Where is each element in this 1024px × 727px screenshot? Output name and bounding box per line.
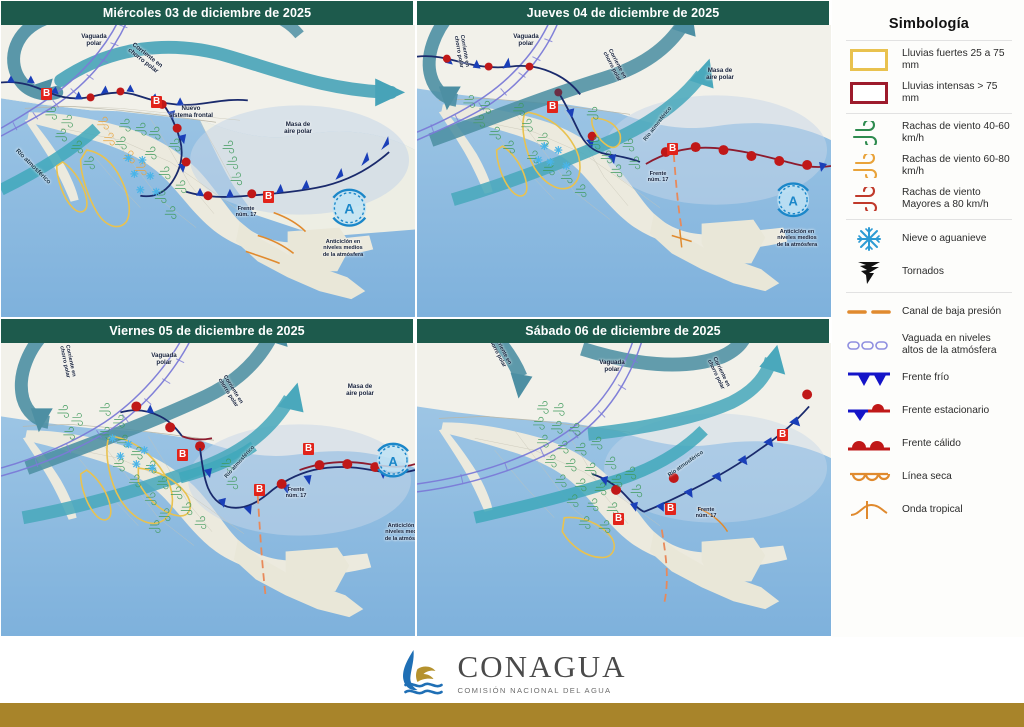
legend-title: Simbología: [844, 16, 1014, 32]
legend-label: Frente estacionario: [902, 405, 989, 417]
legend-item-lluvias-fuertes[interactable]: Lluvias fuertes 25 a 75 mm: [844, 47, 1014, 73]
forecast-panel-miercoles[interactable]: A: [0, 0, 416, 318]
legend-label: Lluvias intensas > 75 mm: [902, 81, 1014, 106]
tropical-wave-icon: [844, 497, 894, 523]
wind-gust-green-icon: [844, 120, 894, 146]
legend-divider: [846, 292, 1012, 293]
legend-item-canal-baja-presion[interactable]: Canal de baja presión: [844, 299, 1014, 325]
label-masa-aire-polar: Masa de aire polar: [335, 383, 385, 398]
legend-label: Frente cálido: [902, 438, 961, 450]
legend-label: Rachas de viento Mayores a 80 km/h: [902, 187, 1014, 212]
svg-text:A: A: [789, 194, 798, 209]
label-frente-num-17: Frente núm. 17: [279, 487, 313, 500]
label-anticiclon: Anticiclón en niveles medios de la atmós…: [373, 523, 416, 542]
wind-gust-red-icon: [844, 186, 894, 212]
legend-item-onda-tropical[interactable]: Onda tropical: [844, 497, 1014, 523]
forecast-panel-sabado[interactable]: Sábado 06 de diciembre de 2025 Corriente…: [416, 318, 832, 637]
legend-item-rachas-60-80[interactable]: Rachas de viento 60-80 km/h: [844, 153, 1014, 179]
legend-divider: [846, 40, 1012, 41]
legend-item-rachas-mayores-80[interactable]: Rachas de viento Mayores a 80 km/h: [844, 186, 1014, 212]
low-pressure-trough-icon: [844, 299, 894, 325]
conagua-tagline: COMISIÓN NACIONAL DEL AGUA: [458, 686, 627, 695]
legend-label: Frente frío: [902, 372, 949, 384]
marker-low-pressure-b: B: [177, 449, 188, 461]
forecast-panel-viernes[interactable]: A: [0, 318, 416, 637]
marker-low-pressure-b: B: [303, 443, 314, 455]
map-canvas-miercoles: A: [1, 1, 415, 317]
stationary-front-icon: [844, 398, 894, 424]
wind-gust-orange-icon: [844, 153, 894, 179]
marker-low-pressure-b: B: [547, 101, 558, 113]
panel-title-jueves: Jueves 04 de diciembre de 2025: [417, 1, 831, 25]
rain-box-gold-icon: [844, 47, 894, 73]
weather-forecast-page: A: [0, 0, 1024, 727]
dry-line-icon: [844, 464, 894, 490]
label-vaguada-polar: Vaguada polar: [503, 33, 549, 48]
legend-item-tornados[interactable]: Tornados: [844, 259, 1014, 285]
forecast-panel-jueves[interactable]: A: [416, 0, 832, 318]
svg-text:A: A: [344, 201, 354, 217]
legend-label: Tornados: [902, 266, 944, 278]
legend-divider: [846, 219, 1012, 220]
label-nuevo-sistema-frontal: Nuevo sistema frontal: [161, 105, 221, 120]
legend-label: Onda tropical: [902, 504, 963, 516]
marker-low-pressure-b: B: [667, 143, 678, 155]
legend-item-frente-estacionario[interactable]: Frente estacionario: [844, 398, 1014, 424]
forecast-panels-grid: A: [0, 0, 832, 637]
legend-panel: Simbología Lluvias fuertes 25 a 75 mm Ll…: [832, 0, 1024, 637]
panel-title-sabado: Sábado 06 de diciembre de 2025: [417, 319, 831, 343]
label-anticiclon: Anticiclón en niveles medios de la atmós…: [311, 239, 375, 258]
marker-low-pressure-b: B: [151, 96, 162, 108]
warm-front-icon: [844, 431, 894, 457]
legend-label: Nieve o aguanieve: [902, 233, 986, 245]
label-vaguada-polar: Vaguada polar: [589, 359, 635, 374]
panel-title-miercoles: Miércoles 03 de diciembre de 2025: [1, 1, 415, 25]
footer-gold-bar: [0, 703, 1024, 727]
legend-item-frente-calido[interactable]: Frente cálido: [844, 431, 1014, 457]
label-vaguada-polar: Vaguada polar: [141, 352, 187, 367]
conagua-emblem-icon: [398, 647, 448, 699]
legend-label: Canal de baja presión: [902, 306, 1001, 318]
legend-item-vaguada-niveles-altos[interactable]: Vaguada en niveles altos de la atmósfera: [844, 332, 1014, 358]
label-frente-num-17: Frente núm. 17: [689, 507, 723, 520]
legend-item-frente-frio[interactable]: Frente frío: [844, 365, 1014, 391]
conagua-logo: CONAGUA COMISIÓN NACIONAL DEL AGUA: [398, 647, 627, 699]
legend-label: Lluvias fuertes 25 a 75 mm: [902, 48, 1014, 73]
label-vaguada-polar: Vaguada polar: [71, 33, 117, 48]
marker-low-pressure-b: B: [263, 191, 274, 203]
snowflake-icon: [844, 226, 894, 252]
rain-box-red-icon: [844, 80, 894, 106]
marker-low-pressure-b: B: [665, 503, 676, 515]
marker-low-pressure-b: B: [613, 513, 624, 525]
conagua-wordmark: CONAGUA: [458, 651, 627, 682]
marker-low-pressure-b: B: [254, 484, 265, 496]
marker-low-pressure-b: B: [777, 429, 788, 441]
svg-text:A: A: [388, 454, 397, 469]
legend-item-rachas-40-60[interactable]: Rachas de viento 40-60 km/h: [844, 120, 1014, 146]
label-masa-aire-polar: Masa de aire polar: [695, 67, 745, 82]
legend-item-lluvias-intensas[interactable]: Lluvias intensas > 75 mm: [844, 80, 1014, 106]
map-canvas-jueves: A: [417, 1, 831, 317]
label-anticiclon: Anticiclón en niveles medios de la atmós…: [765, 229, 829, 248]
legend-divider: [846, 113, 1012, 114]
legend-item-nieve[interactable]: Nieve o aguanieve: [844, 226, 1014, 252]
page-footer: CONAGUA COMISIÓN NACIONAL DEL AGUA: [0, 637, 1024, 727]
legend-label: Rachas de viento 60-80 km/h: [902, 154, 1014, 179]
legend-item-linea-seca[interactable]: Línea seca: [844, 464, 1014, 490]
upper-level-trough-icon: [844, 332, 894, 358]
legend-label: Vaguada en niveles altos de la atmósfera: [902, 333, 1014, 358]
label-frente-num-17: Frente núm. 17: [229, 206, 263, 219]
panel-title-viernes: Viernes 05 de diciembre de 2025: [1, 319, 415, 343]
legend-label: Rachas de viento 40-60 km/h: [902, 121, 1014, 146]
tornado-icon: [844, 259, 894, 285]
label-masa-aire-polar: Masa de aire polar: [273, 121, 323, 136]
label-frente-num-17: Frente núm. 17: [641, 171, 675, 184]
legend-label: Línea seca: [902, 471, 952, 483]
cold-front-icon: [844, 365, 894, 391]
marker-low-pressure-b: B: [41, 88, 52, 100]
